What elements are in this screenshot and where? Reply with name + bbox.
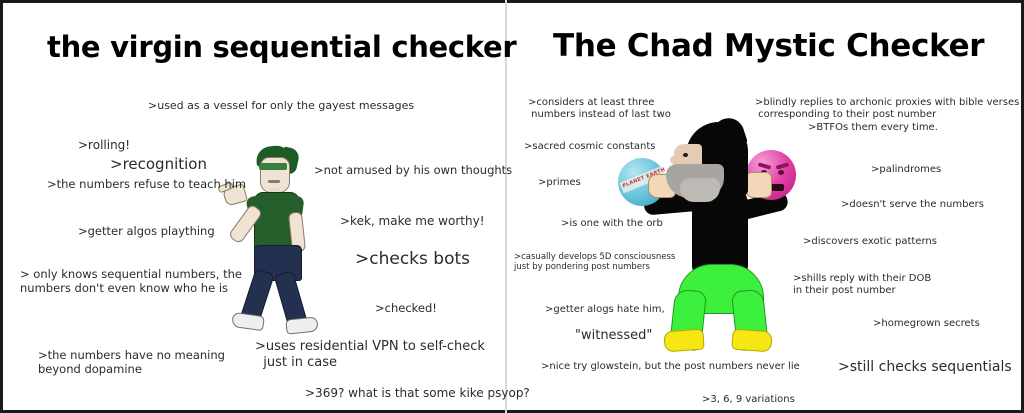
greentext-checked: >checked! — [375, 301, 437, 315]
pink-orb-right-eye — [778, 170, 784, 175]
greentext-rolling: >rolling! — [78, 138, 130, 153]
greentext-getter-algos: >getter algos plaything — [78, 224, 215, 238]
chad-right-boot — [731, 329, 772, 353]
virgin-mouth — [268, 180, 280, 183]
greentext-sacred-cosmic-constants: >sacred cosmic constants — [524, 141, 656, 153]
greentext-blindly-replies: >blindly replies to archonic proxies wit… — [755, 97, 1019, 121]
greentext-shills-reply-dob: >shills reply with their DOB in their po… — [793, 273, 931, 297]
greentext-nice-try-glowstein: >nice try glowstein, but the post number… — [541, 361, 800, 373]
greentext-residential-vpn: >uses residential VPN to self-check just… — [255, 339, 485, 371]
left-panel-title: the virgin sequential checker — [47, 30, 516, 64]
greentext-homegrown-secrets: >homegrown secrets — [873, 318, 980, 330]
greentext-not-amused: >not amused by his own thoughts — [314, 163, 512, 177]
virgin-sequential-checker-figure — [218, 146, 328, 336]
greentext-one-with-the-orb: >is one with the orb — [561, 218, 663, 230]
greentext-recognition: >recognition — [110, 155, 207, 173]
virgin-front-shoe — [285, 316, 318, 334]
greentext-checks-bots: >checks bots — [355, 249, 470, 270]
greentext-kek-make-me-worthy: >kek, make me worthy! — [340, 214, 485, 229]
chad-eye — [683, 153, 688, 157]
greentext-getter-alogs-hate-him: >getter alogs hate him, — [545, 304, 665, 316]
greentext-used-as-vessel: >used as a vessel for only the gayest me… — [148, 99, 414, 112]
greentext-doesnt-serve-numbers: >doesn't serve the numbers — [841, 199, 984, 211]
greentext-still-checks-sequentials: >still checks sequentials — [838, 359, 1012, 376]
greentext-palindromes: >palindromes — [871, 164, 941, 176]
right-panel-title: The Chad Mystic Checker — [553, 28, 984, 64]
virgin-back-shoe — [231, 312, 265, 331]
greentext-numbers-refuse: >the numbers refuse to teach him — [47, 177, 246, 191]
greentext-numbers-no-meaning: >the numbers have no meaning beyond dopa… — [38, 348, 225, 376]
greentext-primes: >primes — [538, 177, 581, 189]
chad-right-hand — [744, 172, 772, 198]
greentext-369-variations: >3, 6, 9 variations — [702, 394, 795, 406]
greentext-witnessed: "witnessed" — [575, 328, 652, 344]
chad-nose — [670, 156, 681, 164]
greentext-discovers-exotic-patterns: >discovers exotic patterns — [803, 236, 937, 248]
frame-border-top — [0, 0, 1024, 3]
greentext-considers-three-numbers: >considers at least three numbers instea… — [528, 97, 671, 121]
chad-beard-highlight — [680, 178, 720, 202]
greentext-only-knows-sequential: > only knows sequential numbers, the num… — [20, 267, 242, 295]
greentext-5d-consciousness: >casually develops 5D consciousness just… — [514, 252, 675, 273]
meme-canvas: the virgin sequential checker The Chad M… — [0, 0, 1024, 413]
chad-left-boot — [663, 329, 704, 353]
virgin-sunglasses — [259, 163, 287, 170]
frame-border-left — [0, 0, 3, 413]
greentext-btfos-them: >BTFOs them every time. — [808, 122, 938, 134]
greentext-kike-psyop: >369? what is that some kike psyop? — [305, 386, 530, 401]
